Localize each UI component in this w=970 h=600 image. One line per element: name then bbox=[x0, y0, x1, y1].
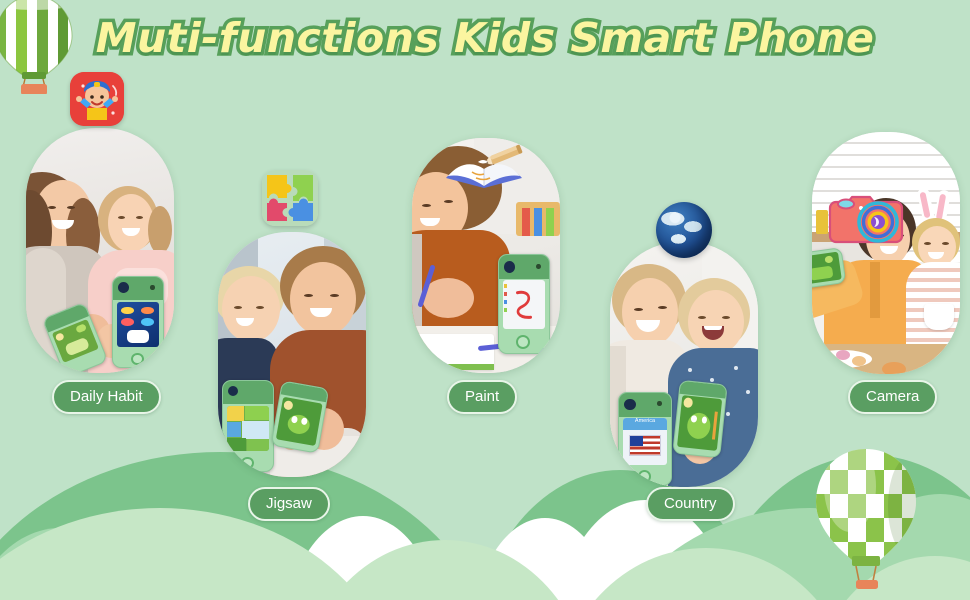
photo-country: America bbox=[610, 242, 758, 487]
paint-book-pencil-icon bbox=[442, 142, 528, 192]
page-title: Muti-functions Kids Smart Phone bbox=[0, 14, 970, 62]
photo-jigsaw bbox=[218, 232, 366, 477]
page-title-text: Muti-functions Kids Smart Phone bbox=[96, 14, 875, 62]
feature-card-jigsaw[interactable] bbox=[218, 232, 366, 477]
jigsaw-puzzle-icon bbox=[262, 170, 318, 226]
camera-icon bbox=[828, 186, 908, 246]
feature-card-daily-habit[interactable] bbox=[26, 128, 174, 373]
kids-phone-jigsaw bbox=[222, 380, 274, 472]
kids-phone-country: America bbox=[618, 392, 672, 486]
feature-card-country[interactable]: America bbox=[610, 242, 758, 487]
feature-label-daily-habit[interactable]: Daily Habit bbox=[52, 380, 161, 414]
feature-label-camera[interactable]: Camera bbox=[848, 380, 937, 414]
feature-label-paint[interactable]: Paint bbox=[447, 380, 517, 414]
phone-screen-country-label: America bbox=[623, 418, 667, 424]
kids-phone-camera bbox=[812, 247, 846, 289]
kids-phone-main bbox=[112, 276, 164, 368]
feature-label-jigsaw[interactable]: Jigsaw bbox=[248, 487, 330, 521]
photo-camera bbox=[812, 132, 960, 374]
feature-label-country[interactable]: Country bbox=[646, 487, 735, 521]
country-globe-icon bbox=[656, 202, 712, 258]
feature-card-camera[interactable] bbox=[812, 132, 960, 374]
kids-phone-country-second bbox=[672, 380, 727, 459]
daily-habit-app-icon bbox=[70, 72, 124, 126]
infographic-canvas: Muti-functions Kids Smart Phone bbox=[0, 0, 970, 600]
hot-air-balloon-top-left bbox=[0, 0, 76, 94]
hot-air-balloon-bottom-right bbox=[812, 446, 920, 598]
photo-daily-habit bbox=[26, 128, 174, 373]
kids-phone-paint bbox=[498, 254, 550, 354]
